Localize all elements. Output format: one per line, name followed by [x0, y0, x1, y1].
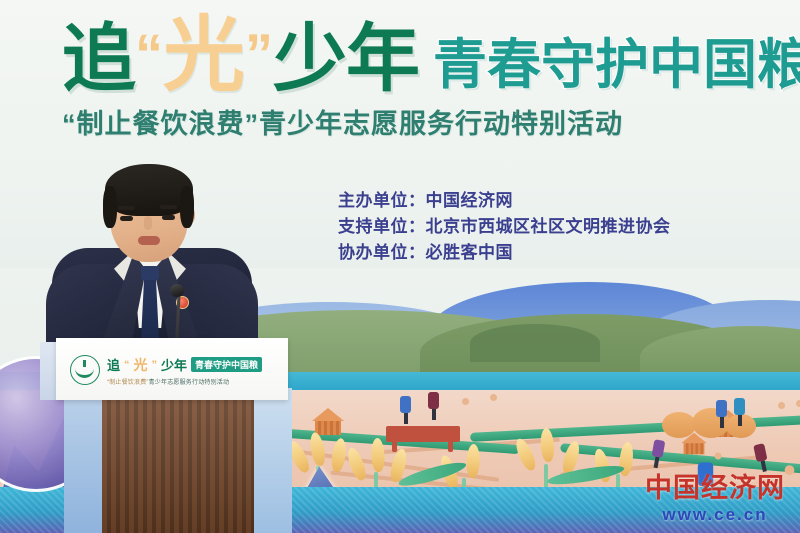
sign-char-zhui: 追 [107, 355, 120, 374]
title-char-guang: 光 [163, 14, 245, 96]
title-slogan-right: 青春守护中国粮 [433, 38, 800, 92]
podium-body-shading [102, 396, 254, 533]
eye-left [120, 216, 133, 221]
mural-person [716, 400, 727, 428]
hair-side-right [180, 186, 194, 228]
organizer-line-host: 主办单位：中国经济网 [338, 188, 671, 214]
title-quote-close: ” [245, 26, 273, 82]
organizer-line-support: 支持单位：北京市西城区社区文明推进协会 [338, 214, 671, 240]
banner-subtitle: “制止餐饮浪费”青少年志愿服务行动特别活动 [62, 102, 792, 141]
podium-sign: 追 “ 光 ” 少年 青春守护中国粮 “制止餐饮浪费”青少年志愿服务行动特别活动 [70, 350, 278, 390]
table-leg [448, 440, 453, 452]
organizer-line-coorganizer: 协办单位：必胜客中国 [338, 240, 671, 266]
banner-title-block: 追 “ 光 ” 少年 青春守护中国粮 “制止餐饮浪费”青少年志愿服务行动特别活动 [62, 14, 792, 141]
hill-shadow [470, 324, 600, 362]
title-quote-open: “ [135, 26, 163, 82]
table-leg [392, 440, 397, 452]
hair-side-left [103, 186, 117, 228]
sign-quote-open: “ [124, 359, 130, 371]
podium: 追 “ 光 ” 少年 青春守护中国粮 “制止餐饮浪费”青少年志愿服务行动特别活动 [56, 338, 288, 533]
eyebrow-right [160, 205, 177, 209]
sign-line2-rest: 青少年志愿服务行动特别活动 [149, 380, 230, 386]
bowl-emblem-icon [70, 355, 100, 385]
event-photo: 追 “ 光 ” 少年 青春守护中国粮 “制止餐饮浪费”青少年志愿服务行动特别活动… [0, 0, 800, 533]
mural-person [428, 392, 439, 420]
podium-front-panel: 追 “ 光 ” 少年 青春守护中国粮 “制止餐饮浪费”青少年志愿服务行动特别活动 [56, 338, 288, 400]
podium-left-panel [64, 388, 104, 533]
microphone-icon [170, 284, 184, 297]
sign-quote-close: ” [152, 359, 158, 371]
banner-title-main: 追 “ 光 ” 少年 青春守护中国粮 [62, 14, 792, 96]
podium-sign-texts: 追 “ 光 ” 少年 青春守护中国粮 “制止餐饮浪费”青少年志愿服务行动特别活动 [107, 355, 262, 386]
title-word-shaonian: 少年 [273, 22, 419, 96]
sign-slogan-box: 青春守护中国粮 [191, 357, 262, 372]
title-char-zhui: 追 [62, 22, 135, 96]
sign-line2-quoted: 制止餐饮浪费 [109, 380, 146, 386]
eyebrow-left [118, 206, 135, 210]
hut-icon [312, 408, 344, 435]
organizer-list: 主办单位：中国经济网 支持单位：北京市西城区社区文明推进协会 协办单位：必胜客中… [338, 188, 671, 266]
mouth [138, 236, 160, 245]
necktie-knot [141, 266, 159, 280]
mural-person [734, 398, 745, 426]
podium-sign-line1: 追 “ 光 ” 少年 青春守护中国粮 [107, 355, 262, 375]
nose [144, 216, 152, 230]
podium-sign-line2: “制止餐饮浪费”青少年志愿服务行动特别活动 [107, 377, 262, 386]
mural-person [400, 396, 411, 424]
sign-word-shaonian: 少年 [161, 355, 187, 374]
haystack [662, 412, 696, 438]
sign-char-guang: 光 [134, 355, 148, 375]
podium-right-panel [252, 388, 292, 533]
eye-right [162, 215, 175, 220]
